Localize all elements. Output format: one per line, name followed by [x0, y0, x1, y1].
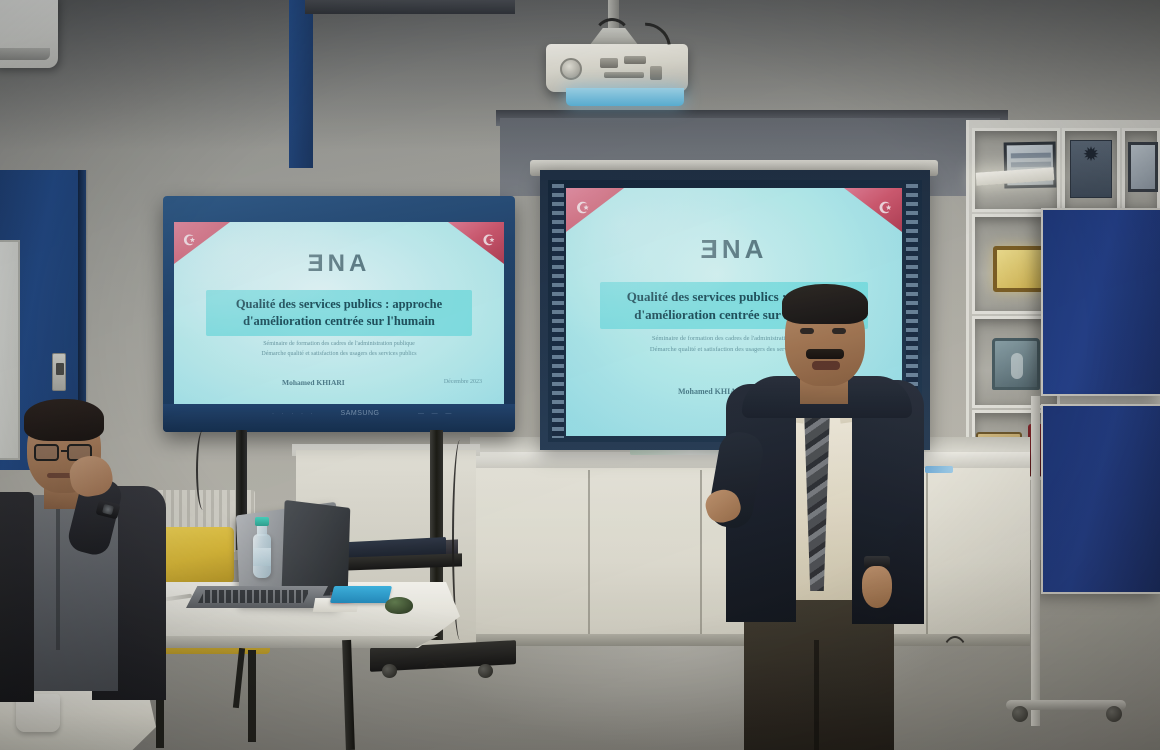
photo-scene: ✹ ☪ ☪ ƎNA [0, 0, 1160, 750]
ena-logo: ƎNA [566, 234, 902, 265]
laptop-keyboard[interactable] [198, 590, 310, 603]
presenter-hair [782, 284, 868, 324]
attendee-jacket-left [0, 492, 34, 702]
caster-wheel [1012, 706, 1028, 722]
gold-plaque-award [993, 246, 1045, 292]
projector-lens [560, 58, 582, 80]
floor-cable-coil [940, 636, 970, 690]
laptop-lid-back [281, 500, 350, 598]
tv-brand-label: SAMSUNG [330, 410, 390, 419]
tunisian-flag-corner-right [844, 188, 902, 232]
blue-document-folder[interactable] [330, 586, 392, 603]
caster-wheel [478, 664, 493, 678]
slide-subtitle-line-1: Séminaire de formation des cadres de l'a… [174, 340, 504, 349]
presenter-leg-seam [814, 640, 819, 750]
ac-vent [0, 48, 50, 60]
cabinet-divider [926, 470, 928, 636]
blue-pinboard-lower [1041, 404, 1160, 594]
caster-wheel [1106, 706, 1122, 722]
chair-leg [248, 650, 256, 742]
presenter-mustache [806, 349, 844, 359]
star-icon: ✹ [1081, 145, 1101, 165]
presenter-hand-right [862, 566, 892, 608]
presenter-mouth [812, 361, 840, 370]
slide-title: Qualité des services publics : approche … [206, 290, 472, 336]
attendee-shirt-placket [56, 500, 60, 650]
blue-wall-column-right [289, 0, 313, 168]
presenter-eye-right [832, 328, 846, 334]
crescent-icon: ☪ [183, 232, 196, 249]
slide-date: Décembre 2023 [444, 379, 482, 385]
slide-subtitle-line-2: Démarche qualité et satisfaction des usa… [174, 350, 504, 359]
cabinet-divider [588, 470, 590, 636]
floor-cable-coil [418, 660, 454, 720]
crescent-icon: ☪ [482, 232, 495, 249]
attendee-hair [24, 399, 104, 441]
tv-control-marks[interactable]: · · · · · [272, 411, 316, 418]
cabinet-divider [700, 470, 702, 636]
air-conditioner-unit [0, 0, 58, 68]
ceiling-beam [305, 0, 515, 14]
table-edge [118, 636, 448, 648]
eyeglasses-lens-left [34, 444, 59, 461]
presenter-eye-left [800, 328, 814, 334]
projector-light-output [566, 88, 684, 106]
pinboard-stand-post [1031, 396, 1040, 726]
bottle-cap[interactable] [255, 517, 269, 526]
ena-logo: ƎNA [174, 250, 504, 278]
tunisian-flag-corner-left [566, 188, 624, 232]
framed-picture [1128, 142, 1158, 192]
whiteboard [0, 240, 20, 460]
crescent-icon: ☪ [879, 199, 892, 217]
tv-slide: ☪ ☪ ƎNA Qualité des services publics : a… [174, 222, 504, 404]
bottle-label [253, 548, 271, 566]
slide-border-pattern [552, 184, 564, 438]
tv-status-marks: — — — [418, 411, 454, 418]
crescent-icon: ☪ [576, 199, 589, 217]
light-switch[interactable] [52, 353, 66, 391]
glass-trophy [992, 338, 1040, 390]
eyeglasses-bridge [61, 450, 69, 452]
caster-wheel [382, 664, 397, 678]
hanging-cable [196, 430, 210, 510]
computer-mouse[interactable] [385, 597, 413, 614]
blue-pinboard-upper [1041, 208, 1160, 396]
slide-author: Mohamed KHIARI [282, 378, 345, 387]
counter-small-item [925, 466, 953, 473]
